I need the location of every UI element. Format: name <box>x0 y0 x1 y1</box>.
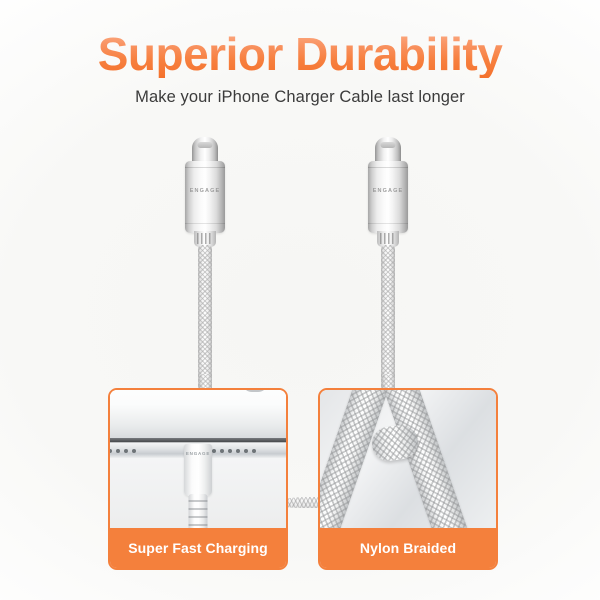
page-subtitle: Make your iPhone Charger Cable last long… <box>0 88 600 107</box>
connector-left: ENGAGE <box>145 125 265 415</box>
feature-card-fast-charging: ENGAGE Super Fast Charging <box>108 388 288 570</box>
housing-seam <box>185 167 225 168</box>
product-poster: Superior Durability Make your iPhone Cha… <box>0 0 600 600</box>
speaker-grille-right <box>212 449 256 453</box>
page-title: Superior Durability <box>0 30 600 78</box>
feature-label-nylon-braided: Nylon Braided <box>320 528 496 568</box>
brand-logo-text: ENGAGE <box>185 188 225 194</box>
housing-seam <box>368 223 408 224</box>
feature-card-nylon-braided: Nylon Braided <box>318 388 498 570</box>
plug-brand-text: ENGAGE <box>184 451 212 456</box>
braided-knot-scene <box>320 390 496 532</box>
camera-lens-icon <box>242 390 268 392</box>
iphone-body <box>110 390 286 444</box>
connector-housing: ENGAGE <box>368 161 408 233</box>
feature-photo-fast-charging: ENGAGE <box>110 390 286 532</box>
brand-logo-text: ENGAGE <box>368 188 408 194</box>
poster-header: Superior Durability Make your iPhone Cha… <box>0 30 600 107</box>
feature-photo-nylon-braided <box>320 390 496 532</box>
housing-seam <box>368 167 408 168</box>
housing-seam <box>185 223 225 224</box>
connector-housing: ENGAGE <box>185 161 225 233</box>
feature-label-fast-charging: Super Fast Charging <box>110 528 286 568</box>
lightning-plug: ENGAGE <box>184 444 212 496</box>
plug-cable <box>189 494 208 532</box>
braided-rope <box>379 390 480 532</box>
cable-illustration: ENGAGE ENGAGE <box>0 125 600 415</box>
feature-callouts: ENGAGE Super Fast Charging Nylon Braided <box>108 388 498 570</box>
connector-right: ENGAGE <box>328 125 448 415</box>
speaker-grille-left <box>110 449 136 453</box>
iphone-charging-scene: ENGAGE <box>110 390 286 532</box>
braided-rope <box>320 390 393 532</box>
